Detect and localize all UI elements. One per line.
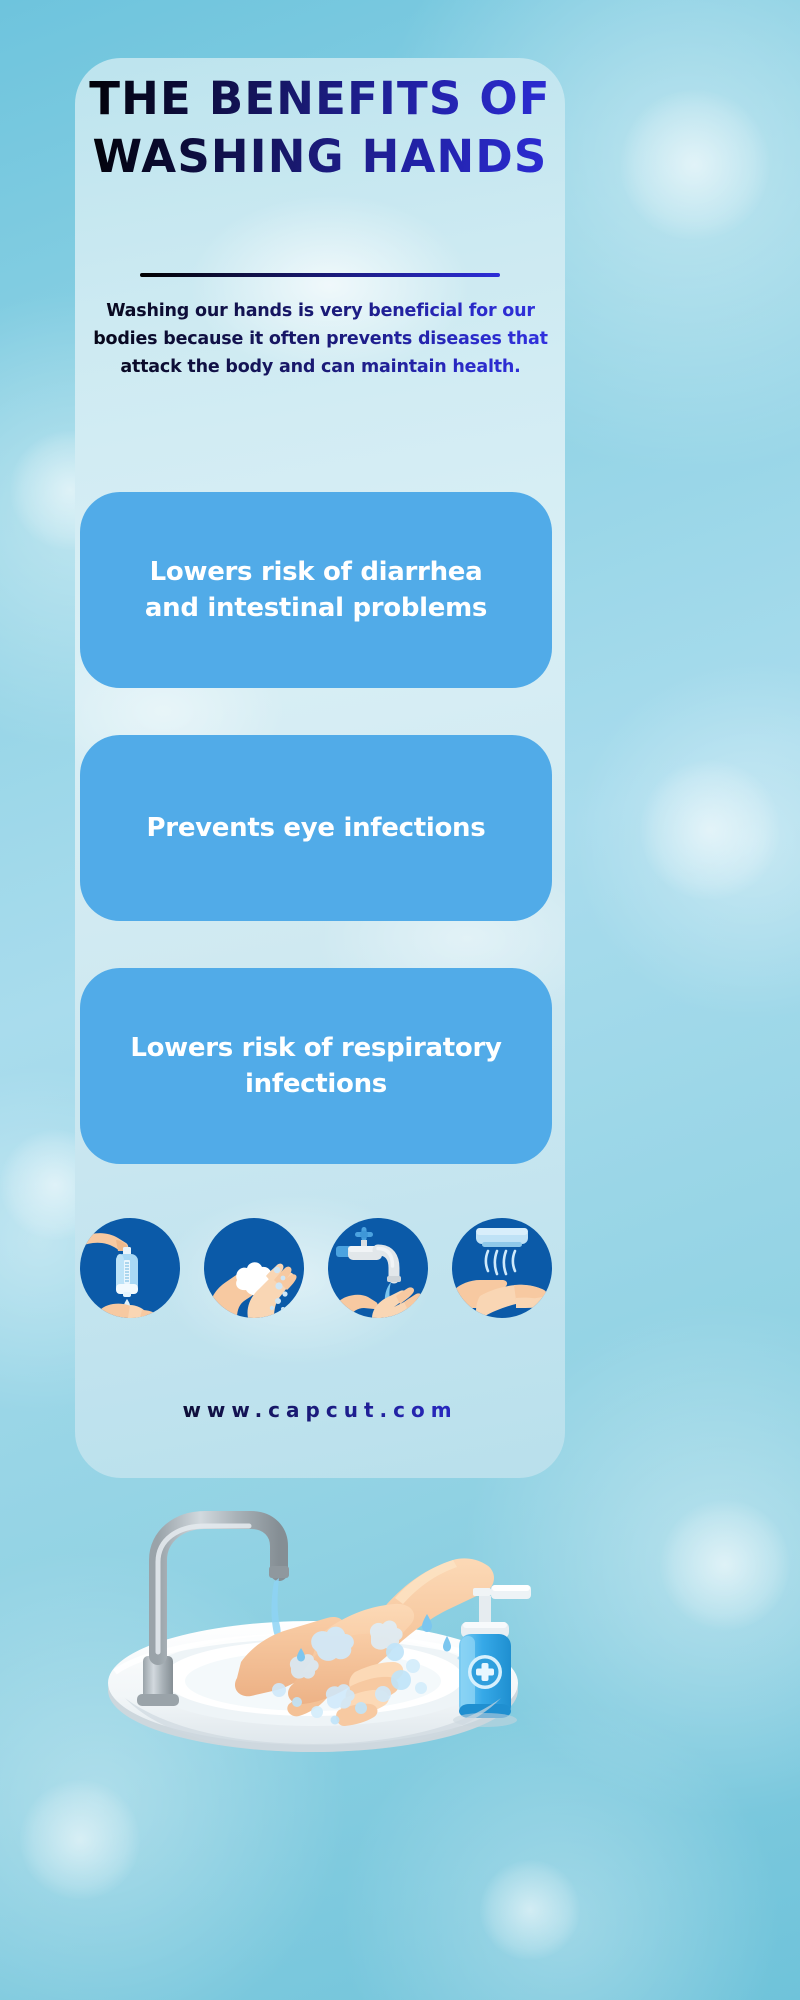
page-title: THE BENEFITS OF WASHING HANDS: [75, 70, 565, 186]
bokeh-decoration: [620, 90, 770, 240]
page-title-line-2: WASHING HANDS: [75, 128, 565, 186]
soap-dispenser-icon: [80, 1218, 180, 1318]
bokeh-decoration: [480, 1860, 580, 1960]
bokeh-decoration: [640, 760, 780, 900]
website-url: www.capcut.com: [75, 1398, 565, 1422]
handwashing-sink-illustration: [55, 1440, 585, 1770]
benefit-card-2-label: Prevents eye infections: [147, 810, 486, 846]
benefit-card-3: Lowers risk of respiratory infections: [80, 968, 552, 1164]
title-divider: [140, 273, 500, 277]
faucet-rinse-icon: [328, 1218, 428, 1318]
bokeh-decoration: [20, 1780, 140, 1900]
bokeh-decoration: [660, 1500, 790, 1630]
benefit-card-1: Lowers risk of diarrhea and intestinal p…: [80, 492, 552, 688]
hand-dryer-icon: [452, 1218, 552, 1318]
lather-hands-icon: [204, 1218, 304, 1318]
benefit-card-3-label: Lowers risk of respiratory infections: [120, 1030, 512, 1102]
infographic-poster: THE BENEFITS OF WASHING HANDS Washing ou…: [0, 0, 800, 2000]
benefit-card-2: Prevents eye infections: [80, 735, 552, 921]
intro-paragraph: Washing our hands is very beneficial for…: [88, 297, 553, 381]
page-title-line-1: THE BENEFITS OF: [75, 70, 565, 128]
benefit-card-1-label: Lowers risk of diarrhea and intestinal p…: [120, 554, 512, 626]
handwashing-steps-icon-row: [80, 1216, 552, 1320]
